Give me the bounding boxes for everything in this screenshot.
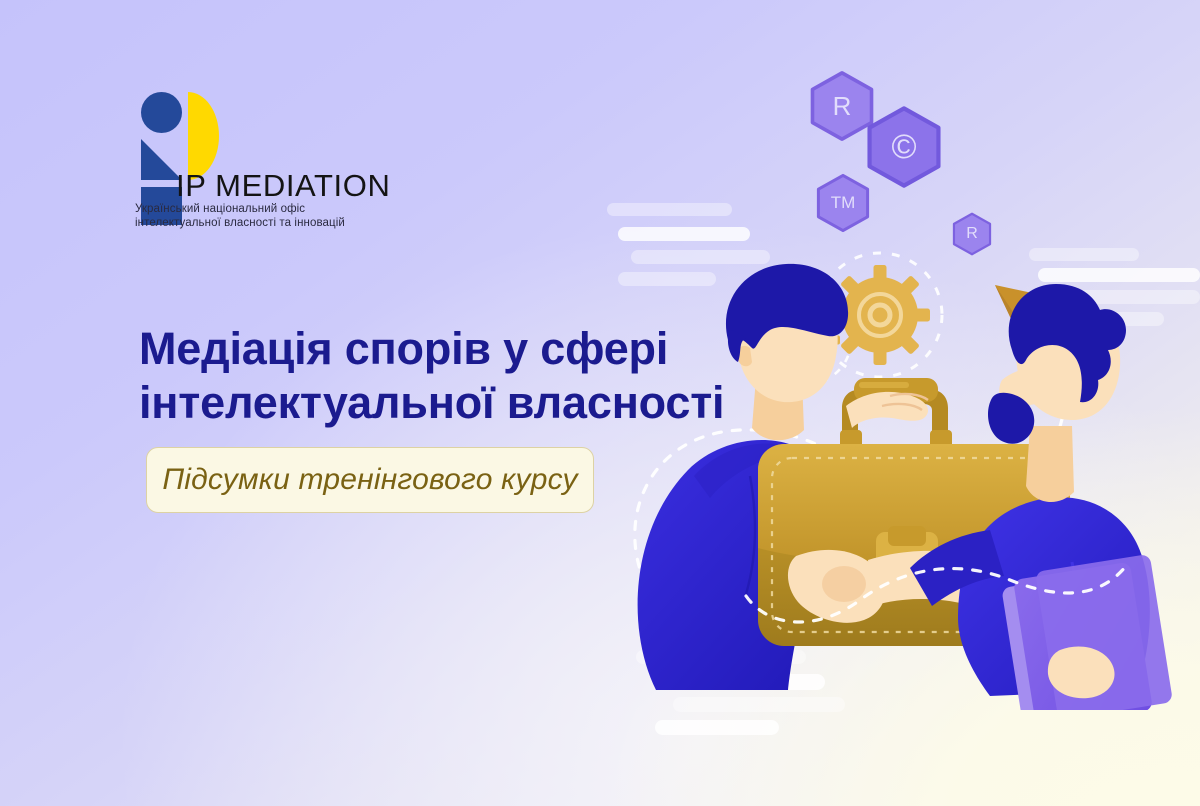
half-circle-shape-icon [188,92,219,180]
hexagon-copyright: © [862,105,946,189]
handshake-briefcase-illustration [560,230,1200,710]
logo-subtitle: Український національний офіс інтелектуа… [135,203,345,230]
hexagon-label: TM [831,193,856,213]
subtitle-badge: Підсумки тренінгового курсу [146,447,594,513]
logo-title: IP MEDIATION [176,168,390,204]
hexagon-label: © [891,128,916,167]
decor-bar [607,203,732,216]
hexagon-label: R [966,225,978,243]
circle-shape-icon [141,92,182,133]
decor-bar [655,720,779,735]
subtitle-badge-label: Підсумки тренінгового курсу [162,463,577,497]
logo-subtitle-line1: Український національний офіс [135,203,345,217]
hexagon-trademark: TM [813,173,873,233]
hexagon-label: R [833,91,852,122]
logo-subtitle-line2: інтелектуальної власності та інновацій [135,217,345,231]
ip-mediation-banner: IP MEDIATION Український національний оф… [0,0,1200,806]
